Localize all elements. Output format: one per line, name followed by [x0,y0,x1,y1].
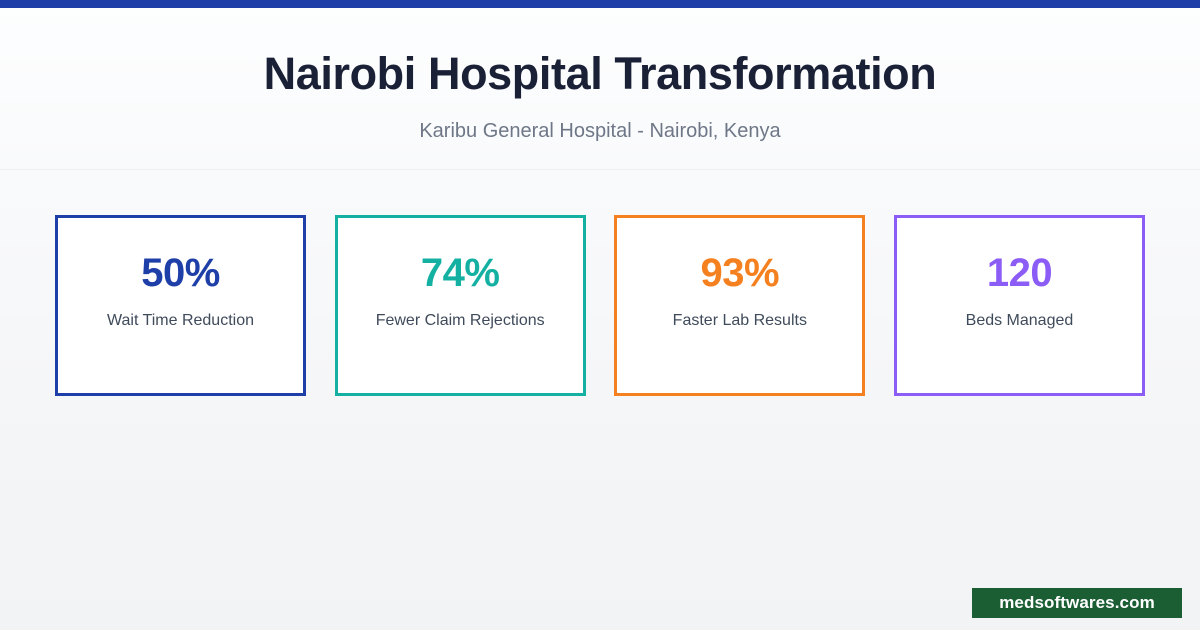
stat-value: 120 [987,252,1052,294]
stat-card-claim-rejections: 74% Fewer Claim Rejections [335,215,586,396]
stat-label: Faster Lab Results [663,311,817,330]
stat-card-wait-time: 50% Wait Time Reduction [55,215,306,396]
top-accent-bar [0,0,1200,8]
site-badge: medsoftwares.com [972,588,1182,618]
poster-canvas: Nairobi Hospital Transformation Karibu G… [0,0,1200,630]
page-title: Nairobi Hospital Transformation [0,50,1200,97]
stat-card-beds-managed: 120 Beds Managed [894,215,1145,396]
stats-row: 50% Wait Time Reduction 74% Fewer Claim … [55,215,1145,396]
stat-value: 74% [421,252,500,294]
stat-label: Wait Time Reduction [97,311,264,330]
stat-label: Fewer Claim Rejections [366,311,555,330]
stat-card-lab-results: 93% Faster Lab Results [614,215,865,396]
stat-value: 93% [701,252,780,294]
poster-header: Nairobi Hospital Transformation Karibu G… [0,8,1200,170]
page-subtitle: Karibu General Hospital - Nairobi, Kenya [0,119,1200,143]
stat-label: Beds Managed [956,311,1084,330]
stat-value: 50% [141,252,220,294]
